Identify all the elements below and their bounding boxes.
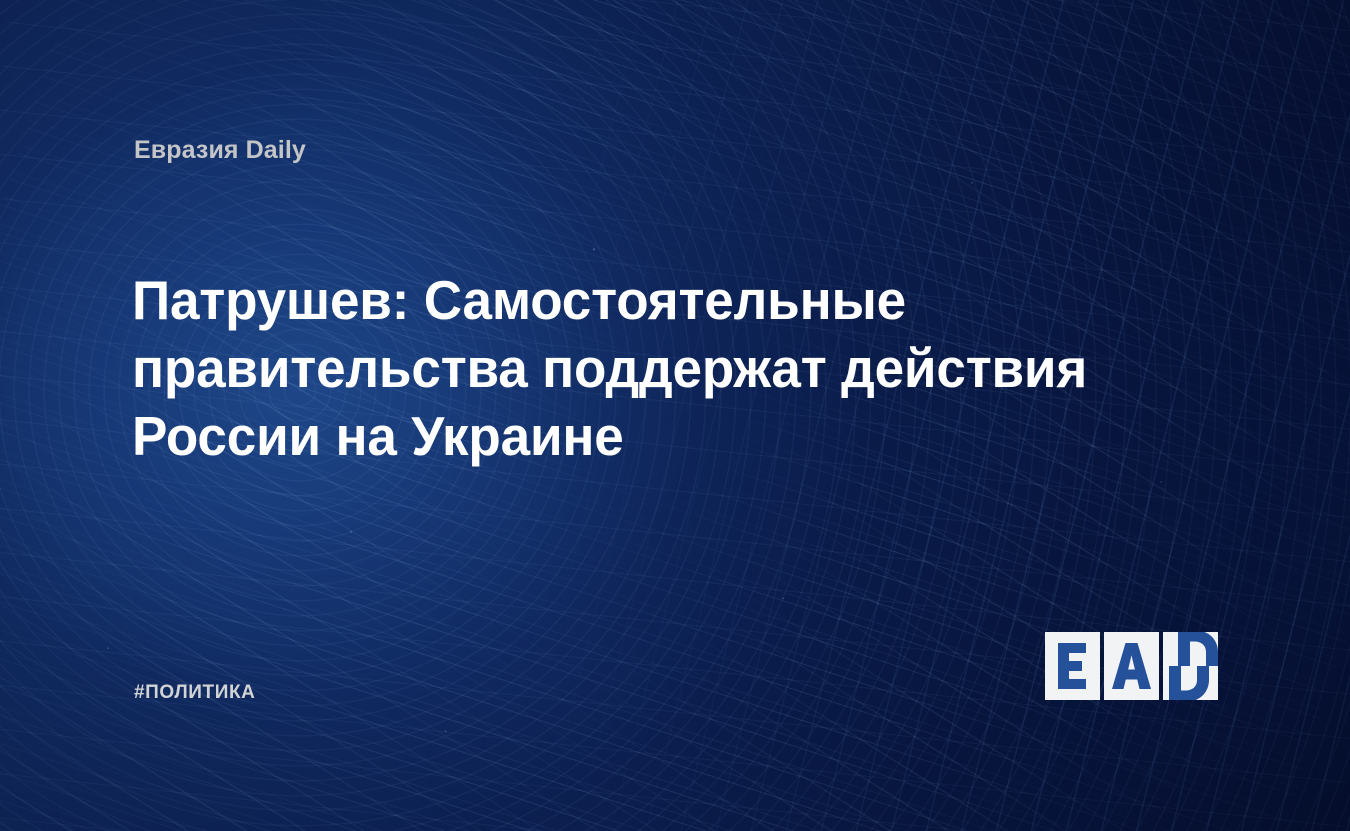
logo-tile-a (1104, 632, 1159, 700)
logo-tile-d-split (1163, 632, 1218, 700)
logo-tile-e (1045, 632, 1100, 700)
topic-tag[interactable]: #ПОЛИТИКА (134, 682, 256, 704)
ead-logo[interactable] (1045, 632, 1218, 700)
news-card: Евразия Daily Патрушев: Самостоятельные … (0, 0, 1350, 831)
site-brand-watermark: Евразия Daily (134, 136, 306, 165)
card-content: Евразия Daily Патрушев: Самостоятельные … (0, 0, 1350, 831)
headline-title: Патрушев: Самостоятельные правительства … (132, 266, 1136, 470)
